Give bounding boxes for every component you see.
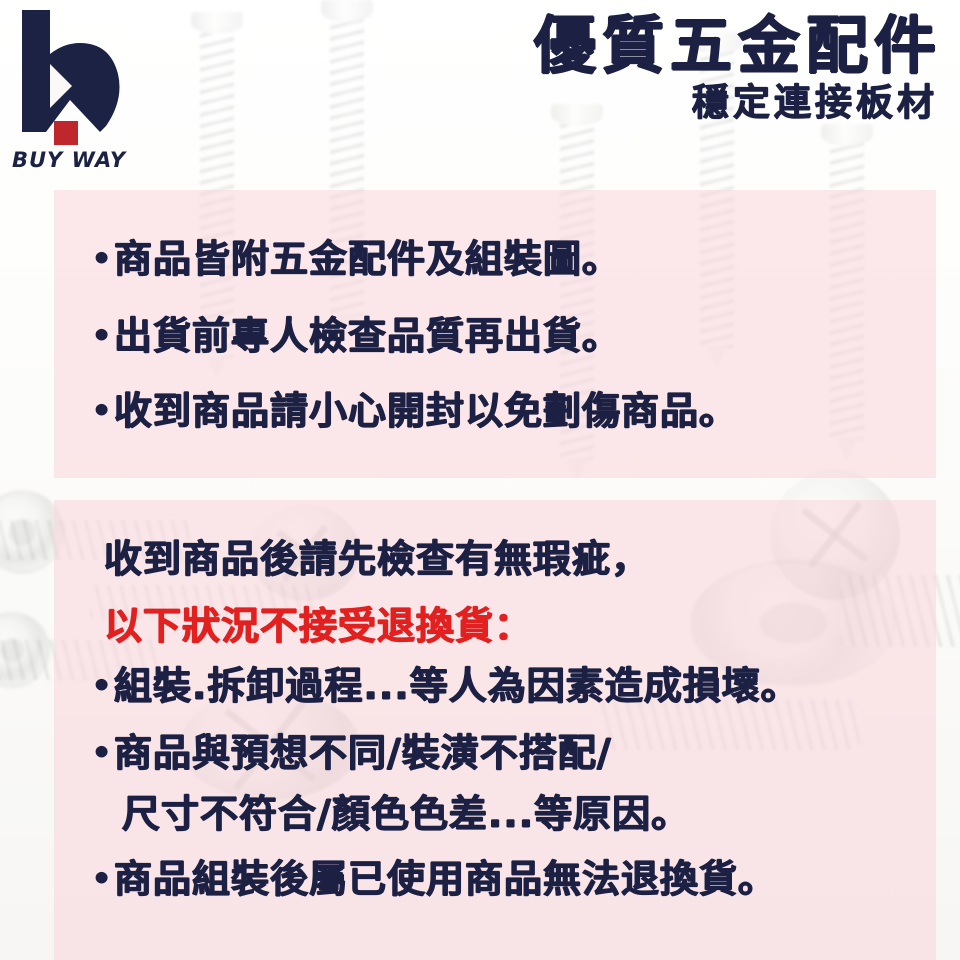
page-title: 優質五金配件 <box>534 14 942 77</box>
logo-wordmark: BUY WAY <box>12 148 126 172</box>
logo-accent-square <box>54 121 78 145</box>
page-subtitle: 穩定連接板材 <box>534 83 938 124</box>
headline-block: 優質五金配件 穩定連接板材 <box>534 14 942 124</box>
brand-logo: BUY WAY <box>8 8 133 168</box>
info-panel-top <box>54 190 936 478</box>
promo-banner: BUY WAY 優質五金配件 穩定連接板材 •商品皆附五金配件及組裝圖。 •出貨… <box>0 0 960 960</box>
info-panel-bottom <box>54 500 936 960</box>
